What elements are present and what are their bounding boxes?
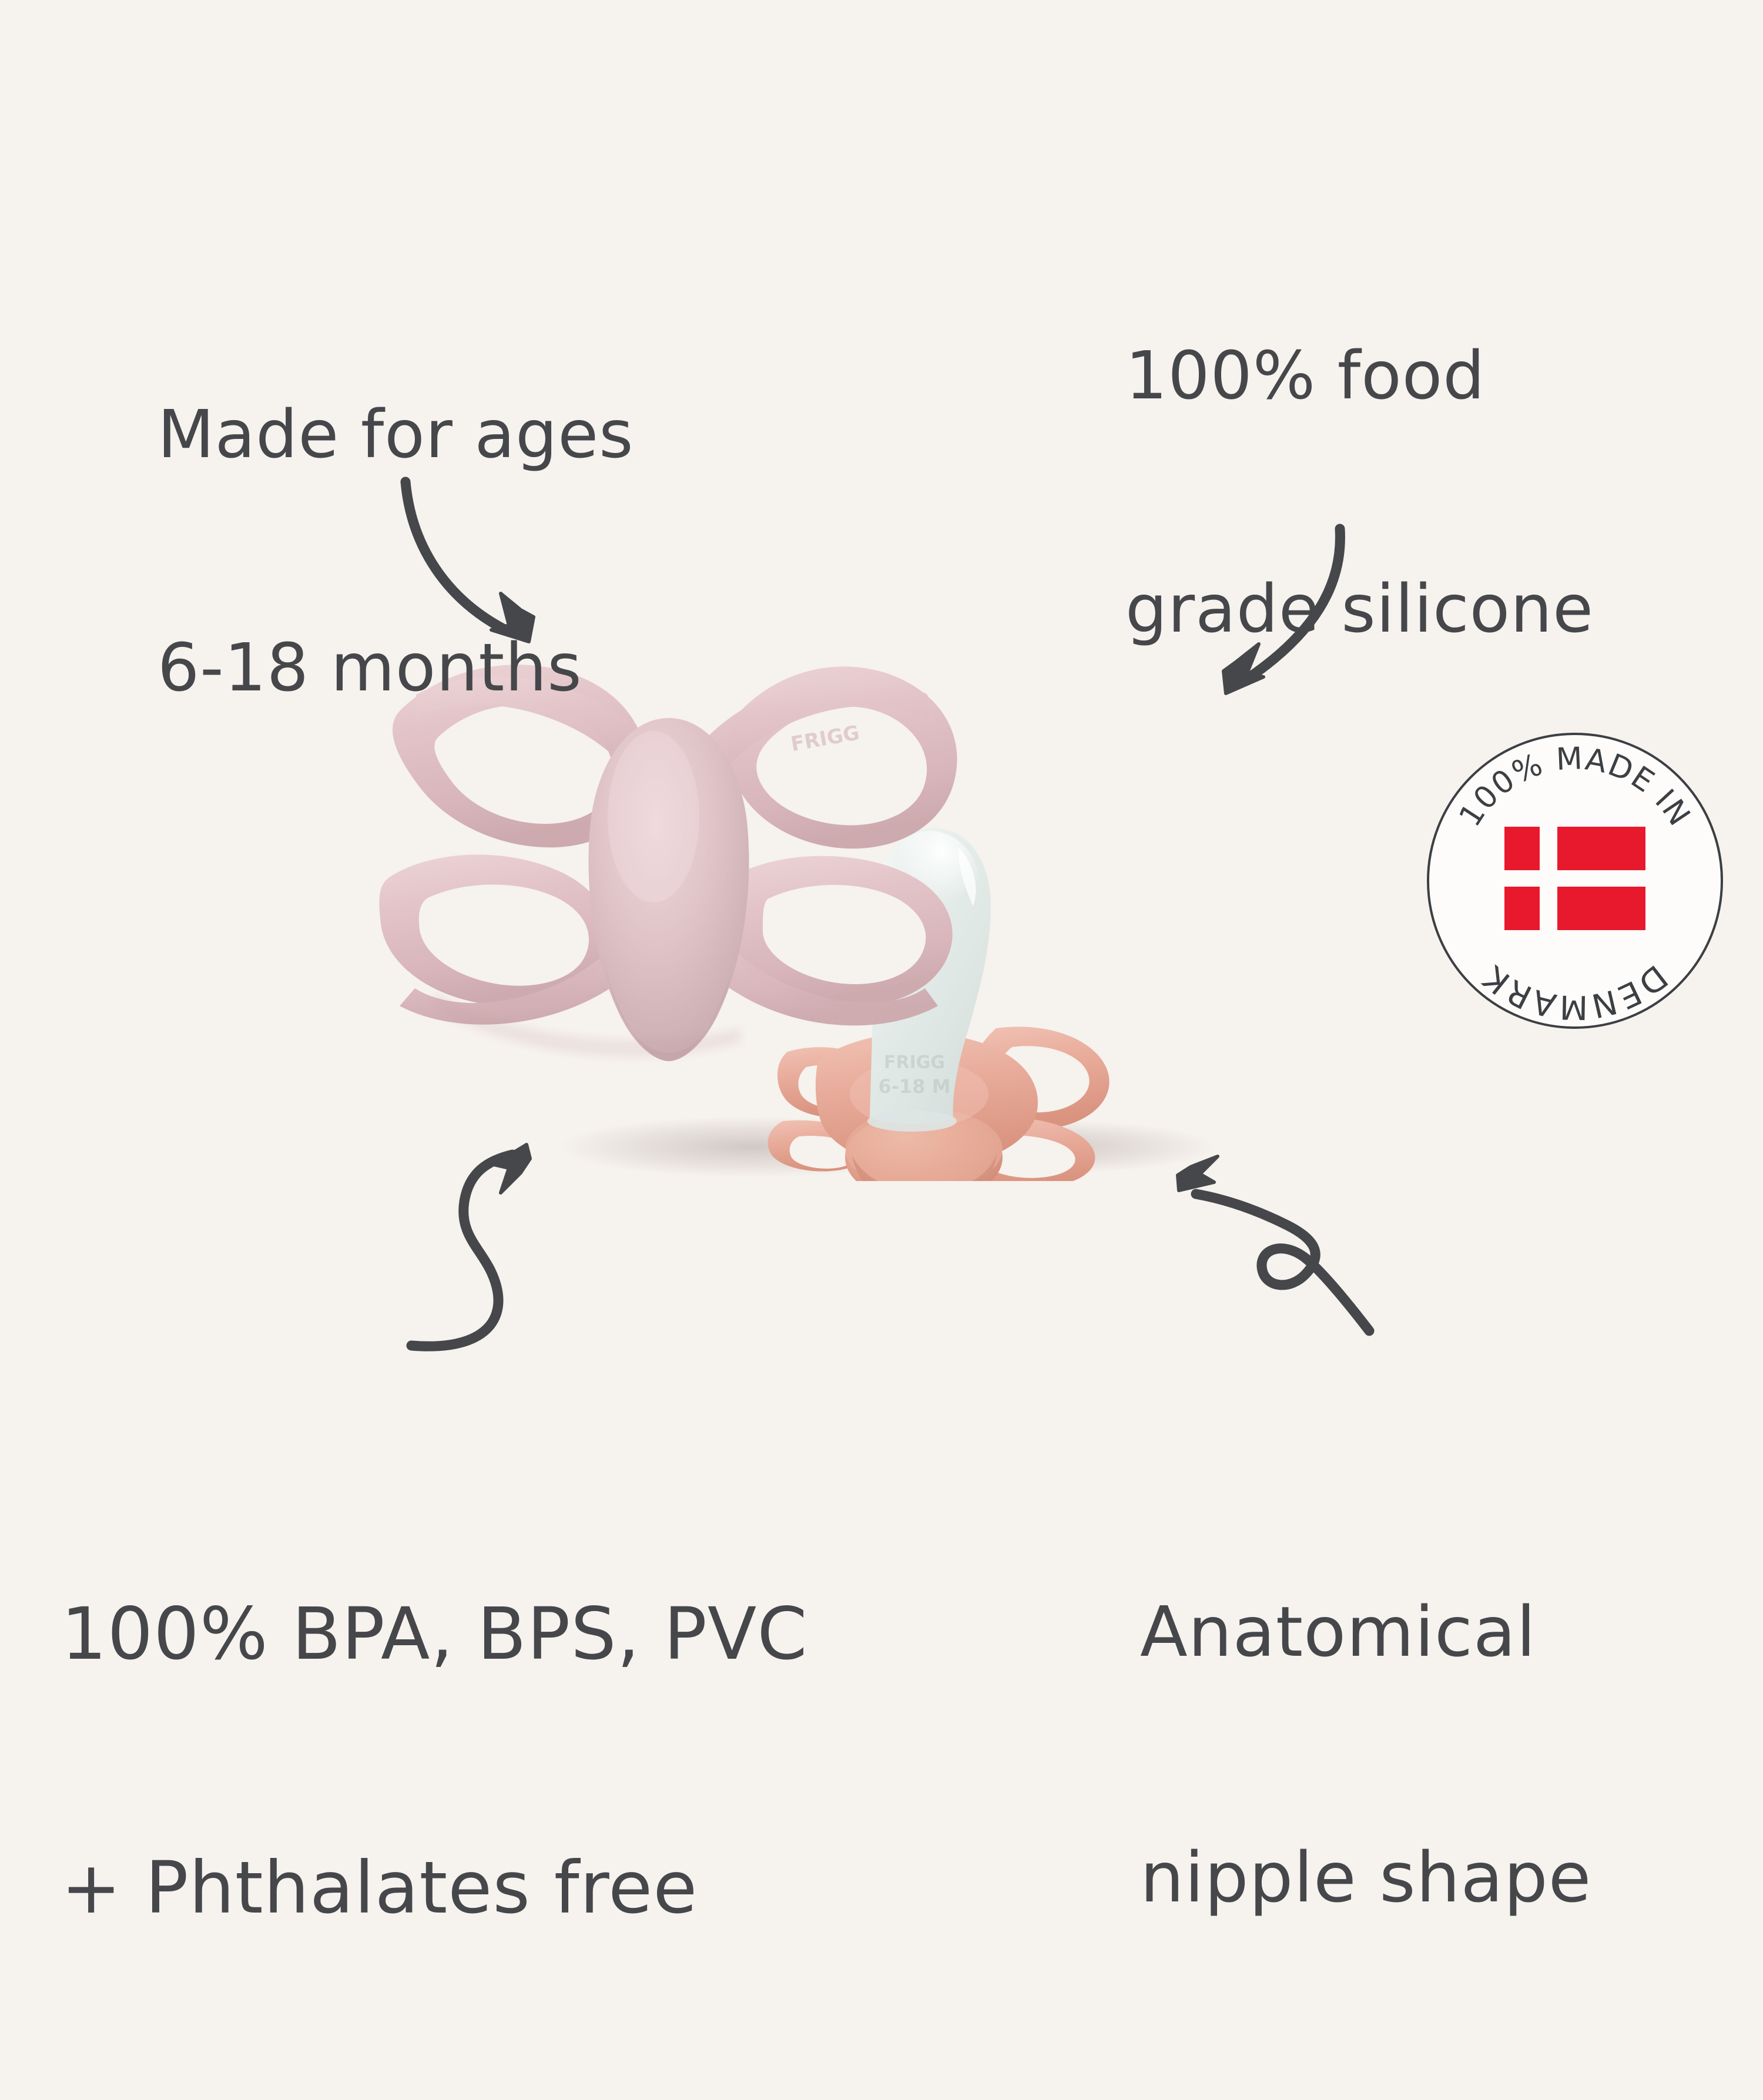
annotation-bpa-free: 100% BPA, BPS, PVC + Phthalates free <box>61 1423 808 2100</box>
annotation-line: nipple shape <box>1140 1837 1591 1918</box>
annotation-food-grade-silicone: 100% food grade silicone <box>1125 182 1594 803</box>
annotation-line: + Phthalates free <box>61 1846 808 1931</box>
annotation-line: 100% BPA, BPS, PVC <box>61 1592 808 1677</box>
annotation-line: grade silicone <box>1125 571 1594 648</box>
arrowhead-bpa-free <box>494 1145 530 1193</box>
annotation-line: 6-18 months <box>157 629 634 707</box>
arrow-anatomical-nipple <box>1196 1194 1369 1331</box>
infographic-canvas: FRIGG 6-18 M <box>0 0 1763 1763</box>
annotation-line: 100% food <box>1125 337 1594 415</box>
arrow-bpa-free <box>411 1155 512 1346</box>
annotation-made-for-ages: Made for ages 6-18 months <box>157 241 634 862</box>
danish-flag-icon <box>1504 827 1645 930</box>
annotation-line: Anatomical <box>1140 1591 1591 1673</box>
arrowhead-anatomical-nipple <box>1178 1156 1218 1190</box>
annotation-anatomical-nipple: Anatomical nipple shape <box>1140 1428 1591 2082</box>
annotation-line: Made for ages <box>157 396 634 474</box>
made-in-denmark-badge: 100% MADE IN DENMARK <box>1425 730 1725 1031</box>
